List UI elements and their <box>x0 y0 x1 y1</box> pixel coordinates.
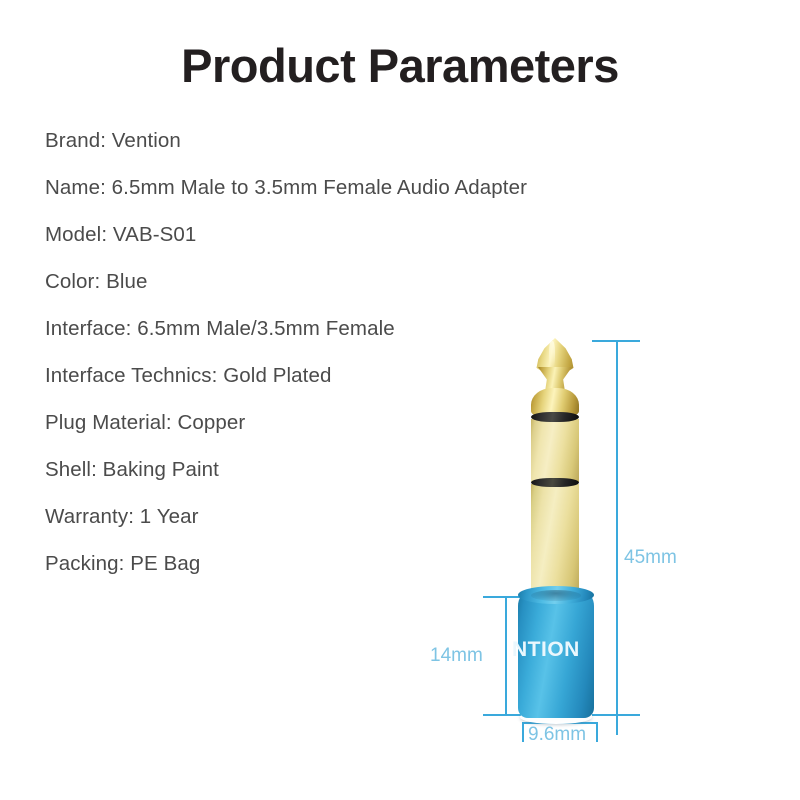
plug-insulator-ring-1 <box>531 412 579 422</box>
dimension-96mm-left-tick <box>522 722 524 742</box>
dimension-45mm-bottom-cap <box>592 714 640 716</box>
product-image-audio-adapter: NTION 45mm 9.6mm <box>400 320 800 800</box>
plug-sleeve-segment <box>531 419 579 482</box>
dimension-14mm-line <box>505 597 507 715</box>
spec-row-name: Name: 6.5mm Male to 3.5mm Female Audio A… <box>45 165 565 212</box>
plug-tip-cone <box>533 338 577 372</box>
product-parameters-page: Product Parameters Brand: Vention Name: … <box>0 0 800 800</box>
dimension-label-45mm: 45mm <box>624 547 677 569</box>
barrel-brand-text: NTION <box>512 638 598 662</box>
dimension-label-96mm: 9.6mm <box>528 724 586 746</box>
spec-row-color: Color: Blue <box>45 259 565 306</box>
dimension-45mm-line <box>616 341 618 735</box>
page-title: Product Parameters <box>0 40 800 92</box>
dimension-96mm-right-tick <box>596 722 598 742</box>
spec-row-brand: Brand: Vention <box>45 118 565 165</box>
plug-insulator-ring-2 <box>531 478 579 487</box>
spec-row-model: Model: VAB-S01 <box>45 212 565 259</box>
dimension-label-14mm: 14mm <box>430 645 483 667</box>
barrel-socket-shadow <box>531 590 581 601</box>
